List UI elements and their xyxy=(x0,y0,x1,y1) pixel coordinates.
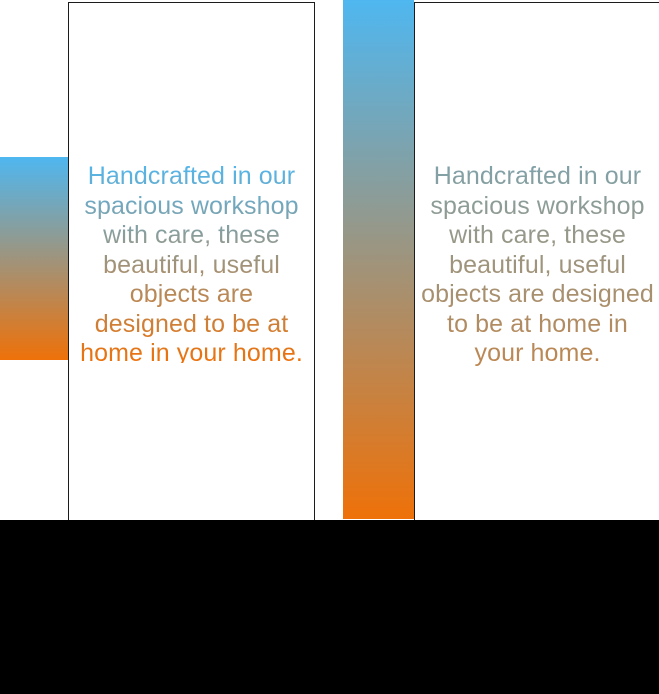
gradient-swatch-middle xyxy=(343,0,414,519)
black-stage-area xyxy=(0,520,659,694)
headline-text-right: Handcrafted in our spacious workshop wit… xyxy=(415,162,659,369)
content-panel-right: Handcrafted in our spacious workshop wit… xyxy=(414,2,659,521)
gradient-swatch-left xyxy=(0,157,68,360)
screenshot-stage: Handcrafted in our spacious workshop wit… xyxy=(0,0,659,694)
content-panel-left: Handcrafted in our spacious workshop wit… xyxy=(68,2,315,521)
headline-text-left: Handcrafted in our spacious workshop wit… xyxy=(69,162,314,369)
